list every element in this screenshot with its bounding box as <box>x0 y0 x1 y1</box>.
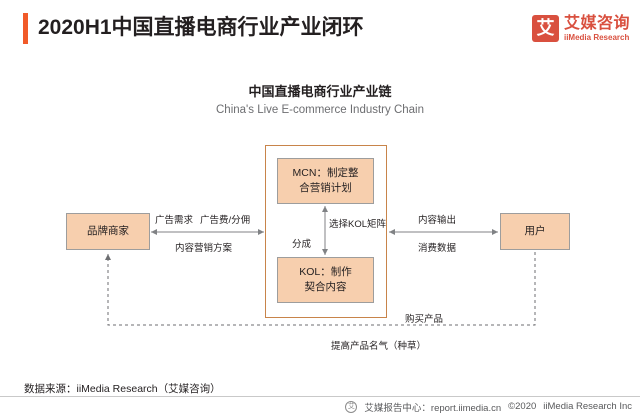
node-user-label: 用户 <box>525 224 546 239</box>
logo-text: 艾媒咨询 iiMedia Research <box>564 16 630 42</box>
brand-logo: 艾 艾媒咨询 iiMedia Research <box>532 12 630 45</box>
edge-label-raise-fame: 提高产品名气（种草） <box>331 342 426 352</box>
footer-badge-icon: 艾 <box>345 401 357 413</box>
node-brand-merchant-label: 品牌商家 <box>87 224 129 239</box>
logo-mark-icon: 艾 <box>532 15 559 42</box>
node-brand-merchant[interactable]: 品牌商家 <box>66 213 150 250</box>
edge-label-revenue-share: 分成 <box>292 240 311 250</box>
data-source-note: 数据来源：iiMedia Research（艾媒咨询） <box>24 381 221 396</box>
node-kol[interactable]: KOL：制作 契合内容 <box>277 257 374 303</box>
footer-copyright: ©2020 <box>508 401 536 412</box>
logo-name-en: iiMedia Research <box>564 34 630 42</box>
edge-label-ad-demand: 广告需求 <box>155 216 193 226</box>
edge-label-purchase-product: 购买产品 <box>405 315 443 325</box>
edge-label-select-kol: 选择KOL矩阵 <box>329 220 386 230</box>
node-kol-label: KOL：制作 契合内容 <box>299 265 352 295</box>
industry-chain-diagram: 品牌商家 MCN：制定整 合营销计划 KOL：制作 契合内容 用户 广告需求 广… <box>0 130 640 370</box>
edge-label-content-output: 内容输出 <box>418 216 456 226</box>
footer-report-center[interactable]: 艾媒报告中心：report.iimedia.cn <box>364 400 501 414</box>
footer-company: iiMedia Research Inc <box>543 401 632 412</box>
chart-title-cn: 中国直播电商行业产业链 <box>0 81 640 100</box>
node-kol-label-line2: 契合内容 <box>304 281 346 293</box>
logo-name-cn: 艾媒咨询 <box>564 16 630 32</box>
chart-title-en: China's Live E-commerce Industry Chain <box>0 104 640 116</box>
edge-label-consumption-data: 消费数据 <box>418 244 456 254</box>
title-accent-bar <box>23 13 28 44</box>
node-mcn-label-line2: 合营销计划 <box>299 182 352 194</box>
node-mcn-label-line1: MCN：制定整 <box>293 167 359 179</box>
edge-label-ad-fee: 广告费/分佣 <box>200 216 250 226</box>
node-mcn-label: MCN：制定整 合营销计划 <box>293 166 359 196</box>
node-mcn[interactable]: MCN：制定整 合营销计划 <box>277 158 374 204</box>
node-user[interactable]: 用户 <box>500 213 570 250</box>
node-kol-label-line1: KOL：制作 <box>299 266 352 278</box>
page-title: 2020H1中国直播电商行业产业闭环 <box>38 12 364 43</box>
slide-page: 2020H1中国直播电商行业产业闭环 艾 艾媒咨询 iiMedia Resear… <box>0 0 640 416</box>
slide-header: 2020H1中国直播电商行业产业闭环 艾 艾媒咨询 iiMedia Resear… <box>0 0 640 58</box>
footer-bar: 艾 艾媒报告中心：report.iimedia.cn ©2020 iiMedia… <box>0 397 640 416</box>
edge-label-content-plan: 内容营销方案 <box>175 244 232 254</box>
